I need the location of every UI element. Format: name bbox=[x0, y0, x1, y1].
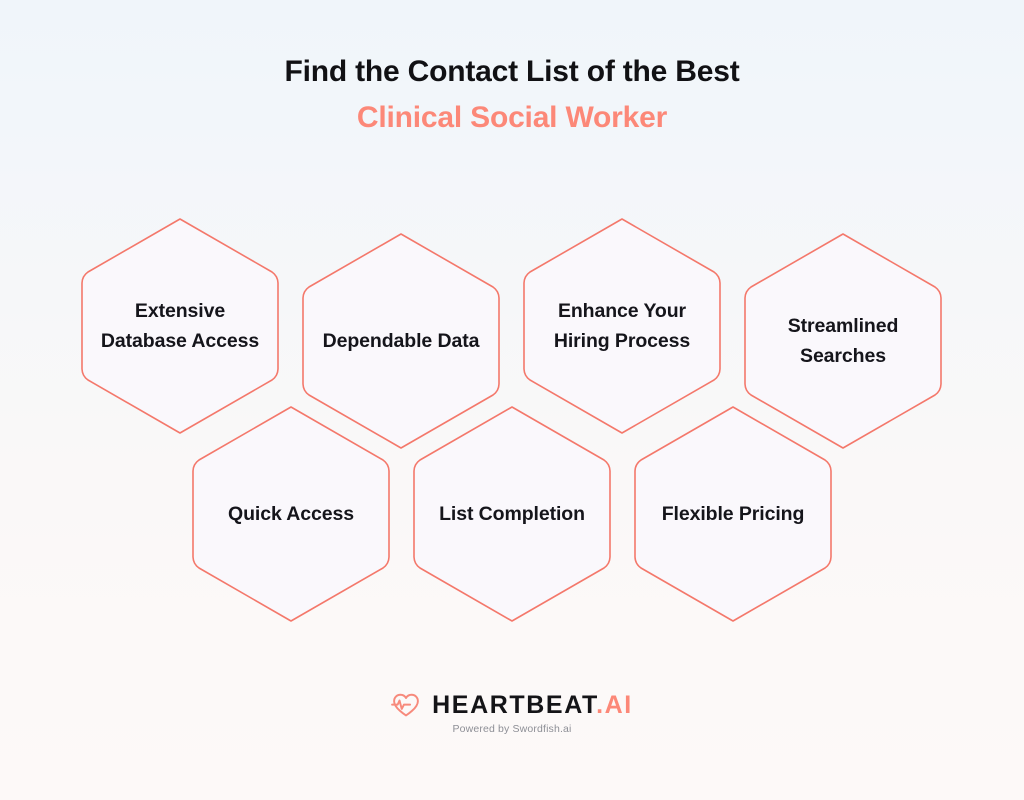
heartbeat-heart-icon bbox=[391, 692, 421, 718]
hex-card-label: List Completion bbox=[412, 403, 612, 625]
brand-wordmark-main: HEARTBEAT bbox=[432, 691, 596, 719]
hex-card-label: Flexible Pricing bbox=[633, 403, 833, 625]
hex-card-list-completion[interactable]: List Completion bbox=[412, 403, 612, 625]
brand-wordmark-suffix: .AI bbox=[596, 691, 633, 719]
hex-card-quick-access[interactable]: Quick Access bbox=[191, 403, 391, 625]
hex-card-label: Quick Access bbox=[191, 403, 391, 625]
brand-logo-block: HEARTBEAT.AI Powered by Swordfish.ai bbox=[0, 692, 1024, 735]
brand-wordmark: HEARTBEAT.AI bbox=[432, 692, 633, 718]
brand-tagline: Powered by Swordfish.ai bbox=[452, 723, 571, 735]
hexagon-feature-grid: Extensive Database Access Dependable Dat… bbox=[0, 0, 1024, 800]
hex-card-flexible-pricing[interactable]: Flexible Pricing bbox=[633, 403, 833, 625]
brand-logo-row[interactable]: HEARTBEAT.AI bbox=[391, 692, 633, 718]
